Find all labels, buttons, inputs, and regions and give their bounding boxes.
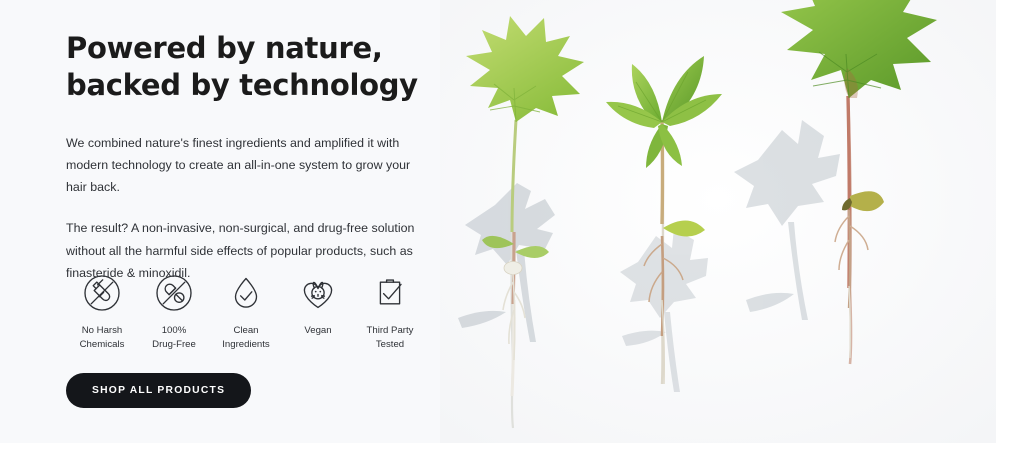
- hero-copy: Powered by nature,backed by technology W…: [66, 30, 426, 284]
- clean-ingredients-icon: [224, 271, 268, 315]
- plants-illustration: [440, 0, 996, 443]
- shop-all-products-button[interactable]: SHOP ALL PRODUCTS: [66, 373, 251, 408]
- hero-plant-photo: [440, 0, 996, 443]
- badge-clean-ingredients: Clean Ingredients: [210, 271, 282, 352]
- headline-line-2: backed by technology: [66, 68, 418, 102]
- page-title: Powered by nature,backed by technology: [66, 30, 426, 104]
- hero-paragraph-1: We combined nature's finest ingredients …: [66, 132, 426, 198]
- headline-line-1: Powered by nature,: [66, 31, 383, 65]
- third-party-tested-icon: [368, 271, 412, 315]
- badge-label: Vegan: [304, 324, 331, 338]
- badge-label: 100% Drug-Free: [152, 324, 196, 352]
- badge-label: No Harsh Chemicals: [80, 324, 125, 352]
- drug-free-icon: [152, 271, 196, 315]
- badge-drug-free: 100% Drug-Free: [138, 271, 210, 352]
- badge-no-harsh-chemicals: No Harsh Chemicals: [66, 271, 138, 352]
- badge-vegan: Vegan: [282, 271, 354, 338]
- badge-label: Clean Ingredients: [222, 324, 269, 352]
- no-harsh-chemicals-icon: [80, 271, 124, 315]
- badge-third-party-tested: Third Party Tested: [354, 271, 426, 352]
- vegan-icon: [296, 271, 340, 315]
- trust-badge-list: No Harsh Chemicals 100% Drug-Free: [66, 271, 426, 352]
- badge-label: Third Party Tested: [367, 324, 414, 352]
- hero-section: Powered by nature,backed by technology W…: [0, 0, 996, 443]
